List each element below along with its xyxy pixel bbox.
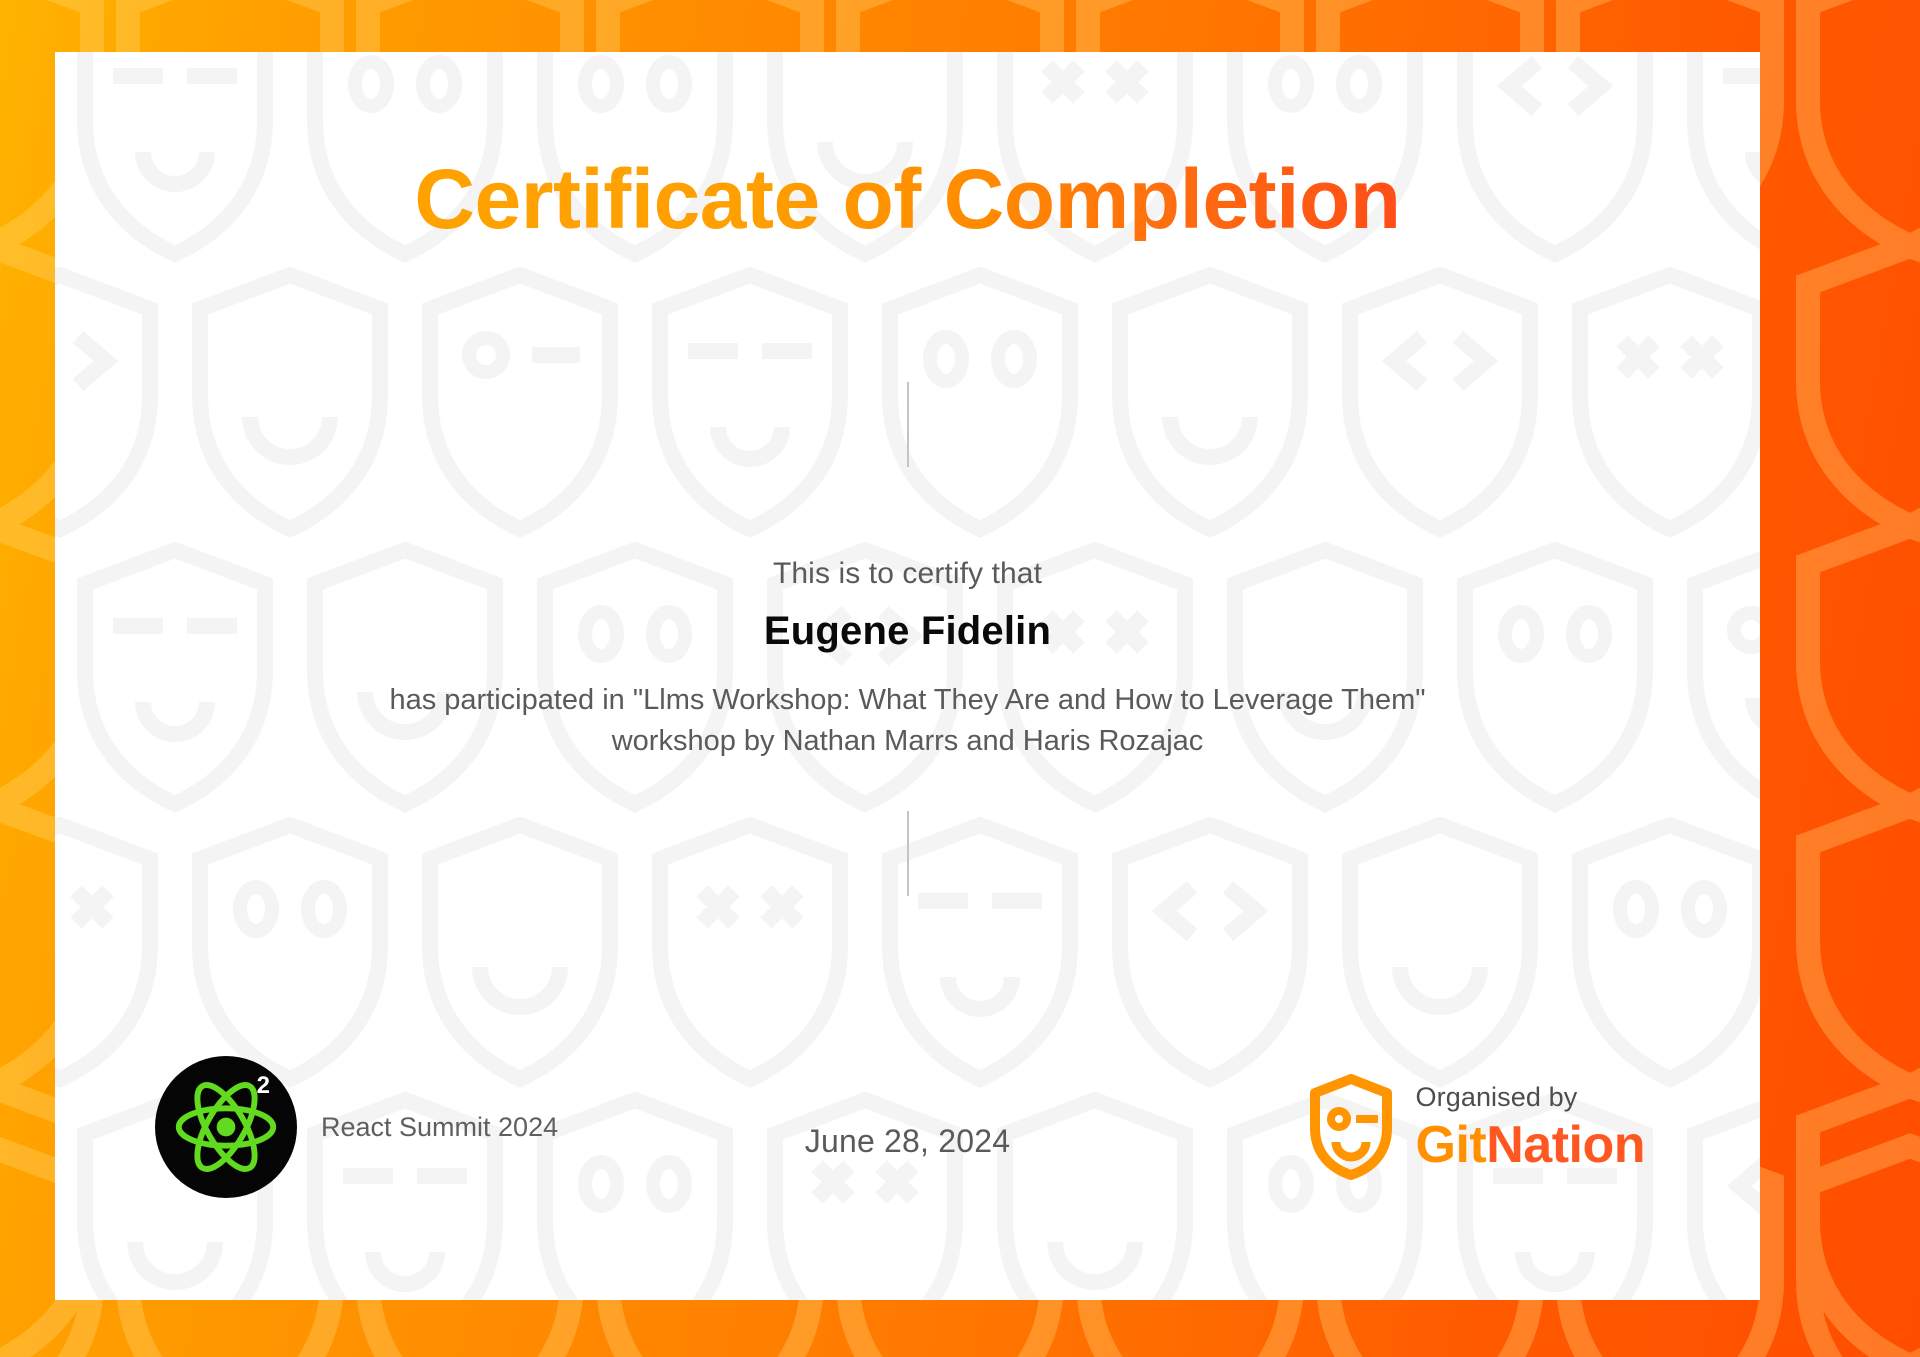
participation-statement: has participated in "Llms Workshop: What…: [389, 680, 1425, 762]
page-title: Certificate of Completion: [414, 157, 1400, 241]
certificate-card: Certificate of Completion This is to cer…: [55, 52, 1760, 1300]
gitnation-wordmark-block: Organised by GitNation: [1416, 1084, 1645, 1171]
divider-bottom: [907, 811, 909, 896]
certificate-footer: 2 React Summit 2024 June 28, 2024 Organi…: [55, 1062, 1760, 1192]
react-badge-superscript: 2: [257, 1074, 270, 1098]
gitnation-wordmark: GitNation: [1416, 1119, 1645, 1171]
participation-line-1: has participated in "Llms Workshop: What…: [389, 680, 1425, 721]
gitnation-nation: Nation: [1486, 1116, 1645, 1174]
gitnation-git: Git: [1416, 1116, 1487, 1174]
organised-by-label: Organised by: [1416, 1084, 1645, 1111]
organiser-branding: Organised by GitNation: [1308, 1074, 1645, 1180]
recipient-name: Eugene Fidelin: [764, 609, 1051, 654]
issue-date: June 28, 2024: [805, 1123, 1010, 1159]
certify-label: This is to certify that: [773, 557, 1042, 591]
certificate-page: Certificate of Completion This is to cer…: [0, 0, 1920, 1357]
participation-line-2: workshop by Nathan Marrs and Haris Rozaj…: [389, 721, 1425, 762]
divider-top: [907, 382, 909, 467]
gitnation-mask-icon: [1308, 1074, 1394, 1180]
